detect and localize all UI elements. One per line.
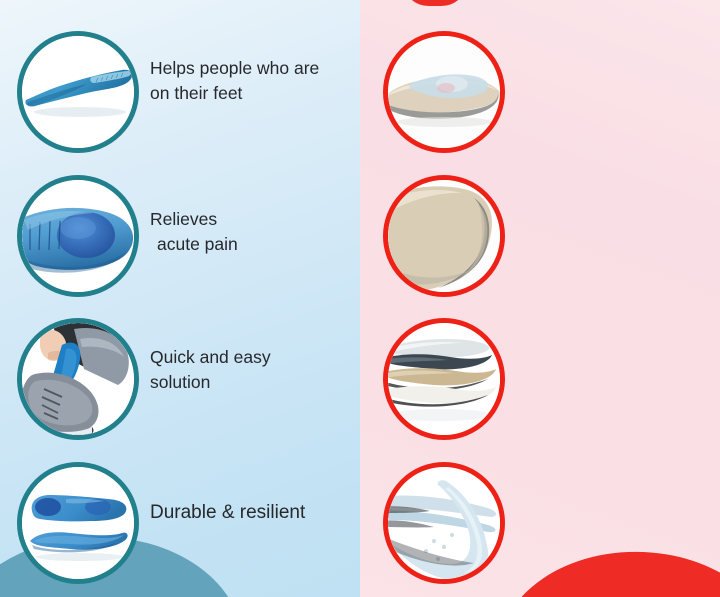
list-item: Not intended for pain relief: [360, 31, 720, 153]
flat-foam-insole-closeup-icon: [388, 180, 500, 292]
bubble-person-inserting-insole: [17, 318, 139, 440]
bubble-flat-foam-insole-closeup: [383, 175, 505, 297]
comparison-infographic: Helps people who are on their feet: [0, 0, 720, 597]
list-item: No arch support: [360, 318, 720, 440]
label-line: Helps people who are: [150, 56, 350, 81]
bubble-blue-gel-insole-side-view: [17, 31, 139, 153]
list-item: No shock absorption: [360, 175, 720, 297]
benefit-label-1: Helps people who are on their feet: [150, 56, 350, 106]
pair-of-blue-gel-insoles-icon: [22, 467, 134, 579]
bubble-worn-pale-blue-insoles: [383, 462, 505, 584]
plain-beige-insole-icon: [388, 36, 500, 148]
stack-of-flat-insoles-icon: [388, 323, 500, 435]
blue-gel-insole-side-view-icon: [22, 36, 134, 148]
worn-pale-blue-insoles-icon: [388, 467, 500, 579]
benefit-label-2: Relieves acute pain: [150, 207, 350, 257]
bubble-stack-of-flat-insoles: [383, 318, 505, 440]
label-line: Quick and easy: [150, 345, 350, 370]
bubble-blue-gel-heel-cushion: [17, 175, 139, 297]
blue-gel-heel-cushion-closeup-icon: [22, 180, 134, 292]
person-inserting-insole-into-sneaker-icon: [22, 323, 134, 435]
label-line: Relieves: [150, 207, 350, 232]
label-line: on their feet: [150, 81, 350, 106]
benefit-label-4: Durable & resilient: [150, 500, 350, 527]
list-item: Relieves acute pain: [0, 175, 360, 297]
benefits-column: Helps people who are on their feet: [0, 0, 360, 597]
label-line: Durable & resilient: [150, 500, 350, 527]
label-line: solution: [150, 370, 350, 395]
label-line: acute pain: [150, 232, 350, 257]
benefit-label-3: Quick and easy solution: [150, 345, 350, 395]
list-item: Durable & resilient: [0, 462, 360, 584]
bubble-plain-beige-insole: [383, 31, 505, 153]
drawbacks-column: Not intended for pain relief: [360, 0, 720, 597]
list-item: Helps people who are on their feet: [0, 31, 360, 153]
bubble-pair-of-blue-gel-insoles: [17, 462, 139, 584]
list-item: Wears out quickly: [360, 462, 720, 584]
list-item: Quick and easy solution: [0, 318, 360, 440]
